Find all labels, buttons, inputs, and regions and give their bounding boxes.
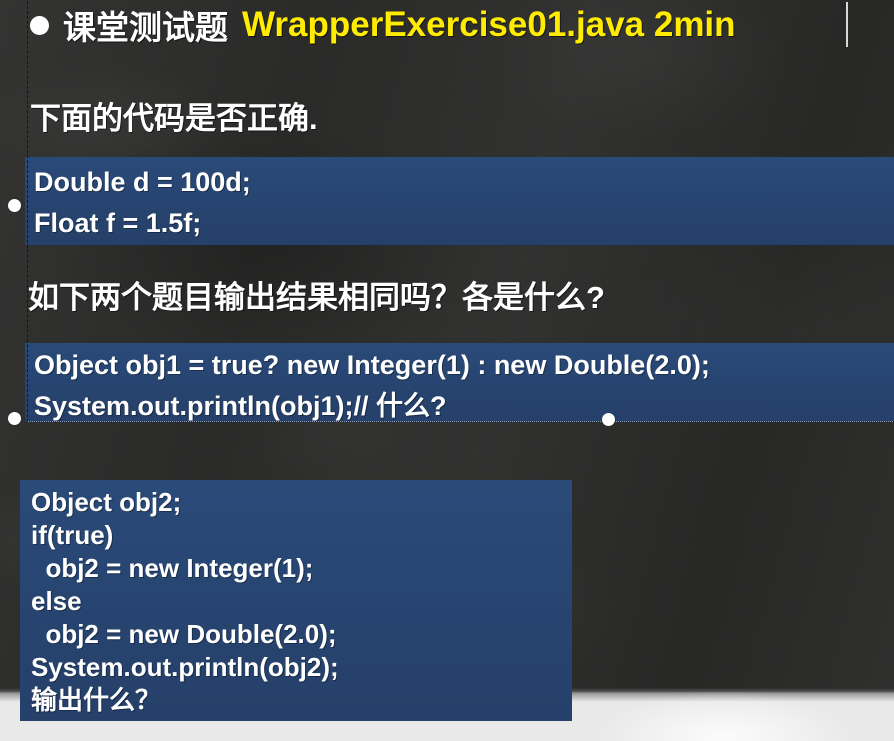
code-line: Object obj2; bbox=[31, 486, 572, 519]
code-line: Double d = 100d; bbox=[34, 162, 894, 203]
code-line: Float f = 1.5f; bbox=[34, 203, 894, 244]
code-line: System.out.println(obj2); bbox=[31, 651, 572, 684]
code-line: System.out.println(obj1);// 什么? bbox=[34, 386, 894, 427]
code-line: obj2 = new Integer(1); bbox=[31, 552, 572, 585]
code-line: 输出什么？ bbox=[31, 684, 572, 717]
code-line: Object obj1 = true? new Integer(1) : new… bbox=[34, 345, 894, 386]
heading-code-correct: 下面的代码是否正确. bbox=[30, 93, 318, 138]
code-block-declarations[interactable]: Double d = 100d; Float f = 1.5f; bbox=[25, 157, 894, 245]
bullet-dot-icon bbox=[30, 16, 49, 35]
slide-title[interactable]: 课堂测试题 WrapperExercise01.java 2min bbox=[30, 1, 736, 49]
background-highlight-shape bbox=[594, 691, 854, 741]
slide-canvas: 课堂测试题 WrapperExercise01.java 2min 下面的代码是… bbox=[0, 0, 894, 741]
code-line: else bbox=[31, 585, 572, 618]
heading-same-output-question: 如下两个题目输出结果相同吗？各是什么? bbox=[28, 272, 605, 317]
title-filename-label: WrapperExercise01.java 2min bbox=[242, 5, 736, 45]
title-chinese-label: 课堂测试题 bbox=[63, 1, 228, 49]
code-line: if(true) bbox=[31, 519, 572, 552]
code-block-if-else[interactable]: Object obj2; if(true) obj2 = new Integer… bbox=[20, 480, 572, 721]
code-block-ternary[interactable]: Object obj1 = true? new Integer(1) : new… bbox=[25, 343, 894, 421]
code-line: obj2 = new Double(2.0); bbox=[31, 618, 572, 651]
text-cursor-caret bbox=[846, 2, 848, 47]
